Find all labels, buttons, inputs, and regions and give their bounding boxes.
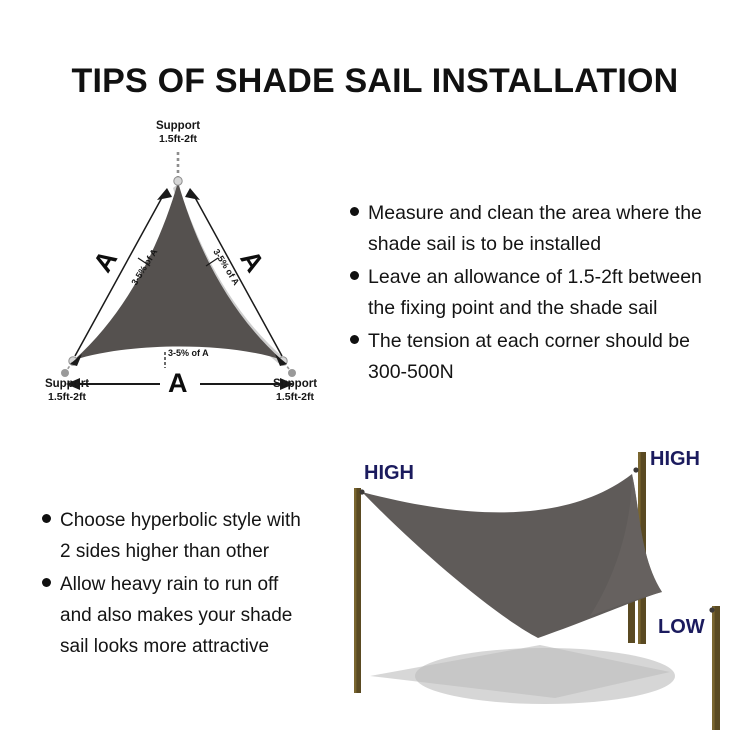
list-item-line: 2 sides higher than other: [60, 536, 342, 567]
bullet-dot-icon: [42, 514, 51, 523]
triangle-diagram-svg: [20, 120, 350, 410]
bullet-dot-icon: [350, 271, 359, 280]
list-item: Measure and clean the area where the sha…: [350, 198, 742, 260]
post-middle-short: [628, 598, 635, 643]
list-item-line: Allow heavy rain to run off: [60, 569, 342, 600]
hyperbolic-shade-sail-diagram: HIGH HIGH LOW: [340, 440, 750, 740]
list-item: Allow heavy rain to run off and also mak…: [42, 569, 342, 662]
support-label-bottom-left-sub: 1.5ft-2ft: [22, 391, 112, 403]
tie-point-front-right: [709, 607, 714, 612]
support-label-top-sub: 1.5ft-2ft: [130, 133, 226, 145]
list-item-line: the fixing point and the shade sail: [368, 293, 742, 324]
corner-label-high-right: HIGH: [650, 448, 700, 471]
list-item-text: Allow heavy rain to run off and also mak…: [60, 569, 342, 662]
list-item-line: The tension at each corner should be: [368, 326, 742, 357]
right-arrowhead-top-fill: [185, 188, 200, 200]
list-item-text: Leave an allowance of 1.5-2ft between th…: [368, 262, 742, 324]
side-label-bottom-letter: A: [168, 368, 188, 399]
list-item-text: The tension at each corner should be 300…: [368, 326, 742, 388]
triangle-shade-sail-diagram: Support 1.5ft-2ft Support 1.5ft-2ft Supp…: [20, 120, 350, 410]
bullet-dot-icon: [350, 335, 359, 344]
list-item-text: Choose hyperbolic style with 2 sides hig…: [60, 505, 342, 567]
post-back-left-highlight: [354, 488, 356, 693]
tie-point-rear-right: [633, 467, 638, 472]
support-label-bottom-left-title: Support: [22, 378, 112, 391]
post-front-right-highlight: [712, 606, 715, 730]
infographic-page: TIPS OF SHADE SAIL INSTALLATION: [0, 0, 750, 750]
list-item-line: Leave an allowance of 1.5-2ft between: [368, 262, 742, 293]
support-label-bottom-right-title: Support: [250, 378, 340, 391]
support-label-top-title: Support: [130, 120, 226, 133]
list-item: Leave an allowance of 1.5-2ft between th…: [350, 262, 742, 324]
style-bullet-list: Choose hyperbolic style with 2 sides hig…: [42, 505, 342, 664]
page-title: TIPS OF SHADE SAIL INSTALLATION: [0, 62, 750, 101]
side-label-bottom-percent: 3-5% of A: [168, 348, 209, 358]
hyperbolic-diagram-svg: [340, 440, 750, 740]
left-arrowhead-top-fill: [157, 188, 172, 200]
list-item-line: 300-500N: [368, 357, 742, 388]
list-item: The tension at each corner should be 300…: [350, 326, 742, 388]
list-item-line: Choose hyperbolic style with: [60, 505, 342, 536]
list-item-line: and also makes your shade: [60, 600, 342, 631]
list-item-text: Measure and clean the area where the sha…: [368, 198, 742, 260]
sail-fabric-hyperbolic: [362, 474, 662, 638]
tie-point-left: [359, 489, 364, 494]
tips-bullet-list: Measure and clean the area where the sha…: [350, 198, 742, 390]
bullet-dot-icon: [350, 207, 359, 216]
support-label-bottom-right-sub: 1.5ft-2ft: [250, 391, 340, 403]
corner-label-low: LOW: [658, 616, 705, 639]
list-item-line: shade sail is to be installed: [368, 229, 742, 260]
bullet-dot-icon: [42, 578, 51, 587]
corner-label-high-left: HIGH: [364, 462, 414, 485]
list-item: Choose hyperbolic style with 2 sides hig…: [42, 505, 342, 567]
list-item-line: sail looks more attractive: [60, 631, 342, 662]
anchor-point-top: [174, 177, 182, 185]
list-item-line: Measure and clean the area where the: [368, 198, 742, 229]
